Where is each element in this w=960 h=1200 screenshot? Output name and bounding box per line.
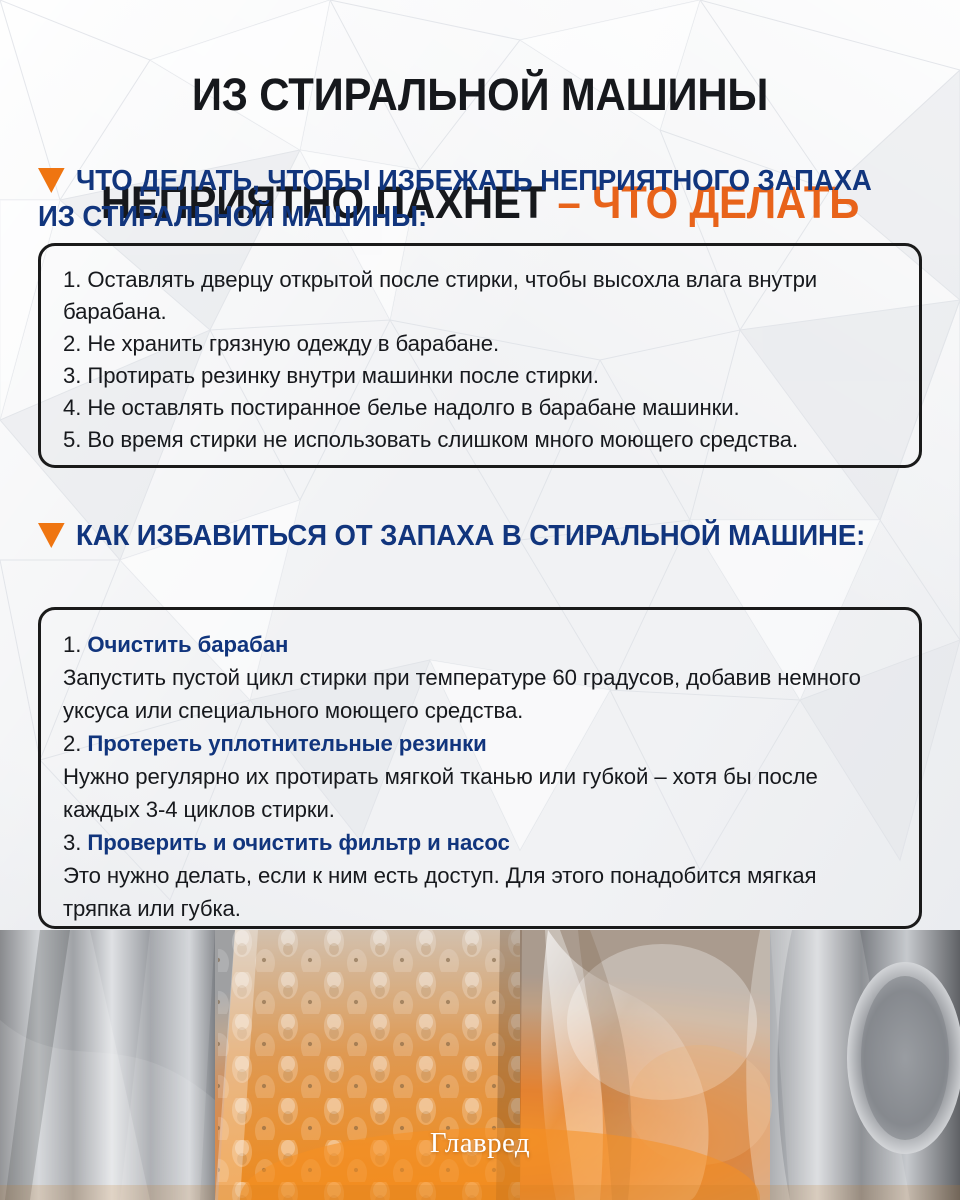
watermark-glavred: Главред [0, 1127, 960, 1160]
title-line-1: ИЗ СТИРАЛЬНОЙ МАШИНЫ [192, 69, 768, 120]
list-item-text: Запустить пустой цикл стирки при темпера… [63, 661, 884, 727]
list-item-number: 2. [63, 731, 81, 756]
list-item-subtitle: Проверить и очистить фильтр и насос [87, 830, 509, 855]
list-item-number: 5. [63, 427, 81, 452]
list-item: 2. Не хранить грязную одежду в барабане. [63, 328, 884, 360]
list-item-text: Протирать резинку внутри машинки после с… [87, 363, 599, 388]
list-item-text: Нужно регулярно их протирать мягкой ткан… [63, 760, 884, 826]
list-item-subtitle: Протереть уплотнительные резинки [87, 731, 486, 756]
tips-card-removal: 1. Очистить барабан Запустить пустой цик… [38, 607, 922, 929]
list-item-number: 2. [63, 331, 81, 356]
list-item-number: 3. [63, 830, 81, 855]
list-item-number: 4. [63, 395, 81, 420]
list-item-number: 1. [63, 267, 81, 292]
list-item: 1. Оставлять дверцу открытой после стирк… [63, 264, 884, 328]
list-item-subtitle: Очистить барабан [87, 632, 288, 657]
section-2-heading: КАК ИЗБАВИТЬСЯ ОТ ЗАПАХА В СТИРАЛЬНОЙ МА… [38, 518, 885, 554]
triangle-down-icon [38, 523, 65, 548]
list-item: 4. Не оставлять постиранное белье надолг… [63, 392, 884, 424]
triangle-down-icon [38, 168, 65, 193]
tips-card-prevention: 1. Оставлять дверцу открытой после стирк… [38, 243, 922, 468]
list-item-number: 1. [63, 632, 81, 657]
section-2-heading-text: КАК ИЗБАВИТЬСЯ ОТ ЗАПАХА В СТИРАЛЬНОЙ МА… [76, 520, 865, 552]
list-item-text: Это нужно делать, если к ним есть доступ… [63, 859, 884, 925]
list-item: 5. Во время стирки не использовать слишк… [63, 424, 884, 456]
list-item-heading: 1. Очистить барабан [63, 628, 884, 661]
list-item-text: Не хранить грязную одежду в барабане. [87, 331, 499, 356]
infographic-root: Главред ИЗ СТИРАЛЬНОЙ МАШИНЫ НЕПРИЯТНО П… [0, 0, 960, 1200]
list-item-heading: 3. Проверить и очистить фильтр и насос [63, 826, 884, 859]
list-item-number: 3. [63, 363, 81, 388]
list-item-heading: 2. Протереть уплотнительные резинки [63, 727, 884, 760]
section-1-heading: ЧТО ДЕЛАТЬ, ЧТОБЫ ИЗБЕЖАТЬ НЕПРИЯТНОГО З… [38, 163, 885, 235]
list-item-text: Не оставлять постиранное белье надолго в… [87, 395, 739, 420]
list-item: 3. Протирать резинку внутри машинки посл… [63, 360, 884, 392]
section-1-heading-text: ЧТО ДЕЛАТЬ, ЧТОБЫ ИЗБЕЖАТЬ НЕПРИЯТНОГО З… [38, 165, 872, 233]
list-item-text: Оставлять дверцу открытой после стирки, … [63, 267, 817, 324]
list-item-text: Во время стирки не использовать слишком … [87, 427, 798, 452]
